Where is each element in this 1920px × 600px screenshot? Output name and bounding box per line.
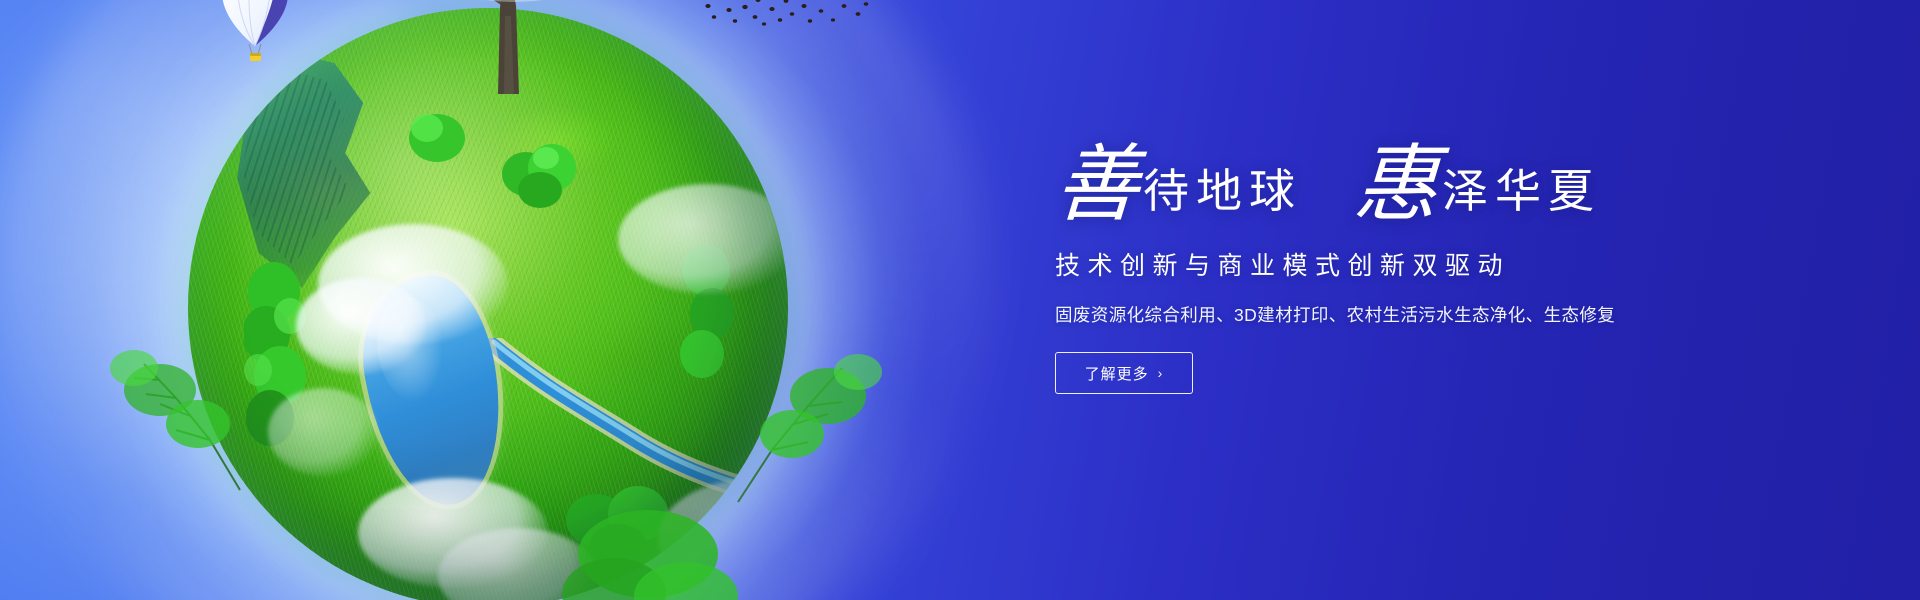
chevron-right-icon: ›: [1158, 366, 1164, 380]
hero-description: 固废资源化综合利用、3D建材打印、农村生活污水生态净化、生态修复: [1055, 302, 1755, 327]
headline-dai-di-qiu: 待地球: [1143, 169, 1302, 224]
learn-more-label: 了解更多: [1085, 363, 1149, 384]
hero-headline: 善 待地球 惠 泽华夏: [1055, 126, 1755, 224]
tree-icon: [338, 0, 678, 96]
hero-banner: 善 待地球 惠 泽华夏 技术创新与商业模式创新双驱动 固废资源化综合利用、3D建…: [0, 0, 1920, 600]
headline-char-shan: 善: [1053, 147, 1141, 224]
hero-copy-block: 善 待地球 惠 泽华夏 技术创新与商业模式创新双驱动 固废资源化综合利用、3D建…: [1055, 126, 1755, 394]
hero-subtitle: 技术创新与商业模式创新双驱动: [1055, 246, 1755, 282]
green-planet-illustration: [108, 0, 868, 600]
bird-flock-icon: [700, 0, 870, 36]
headline-ze-hua-xia: 泽华夏: [1442, 169, 1601, 224]
tree-silhouette-left-icon: [90, 320, 270, 510]
headline-char-hui: 惠: [1352, 147, 1440, 224]
learn-more-button[interactable]: 了解更多 ›: [1055, 352, 1193, 394]
hot-air-balloon-icon: [218, 0, 292, 68]
tree-bottom-icon: [544, 484, 754, 600]
